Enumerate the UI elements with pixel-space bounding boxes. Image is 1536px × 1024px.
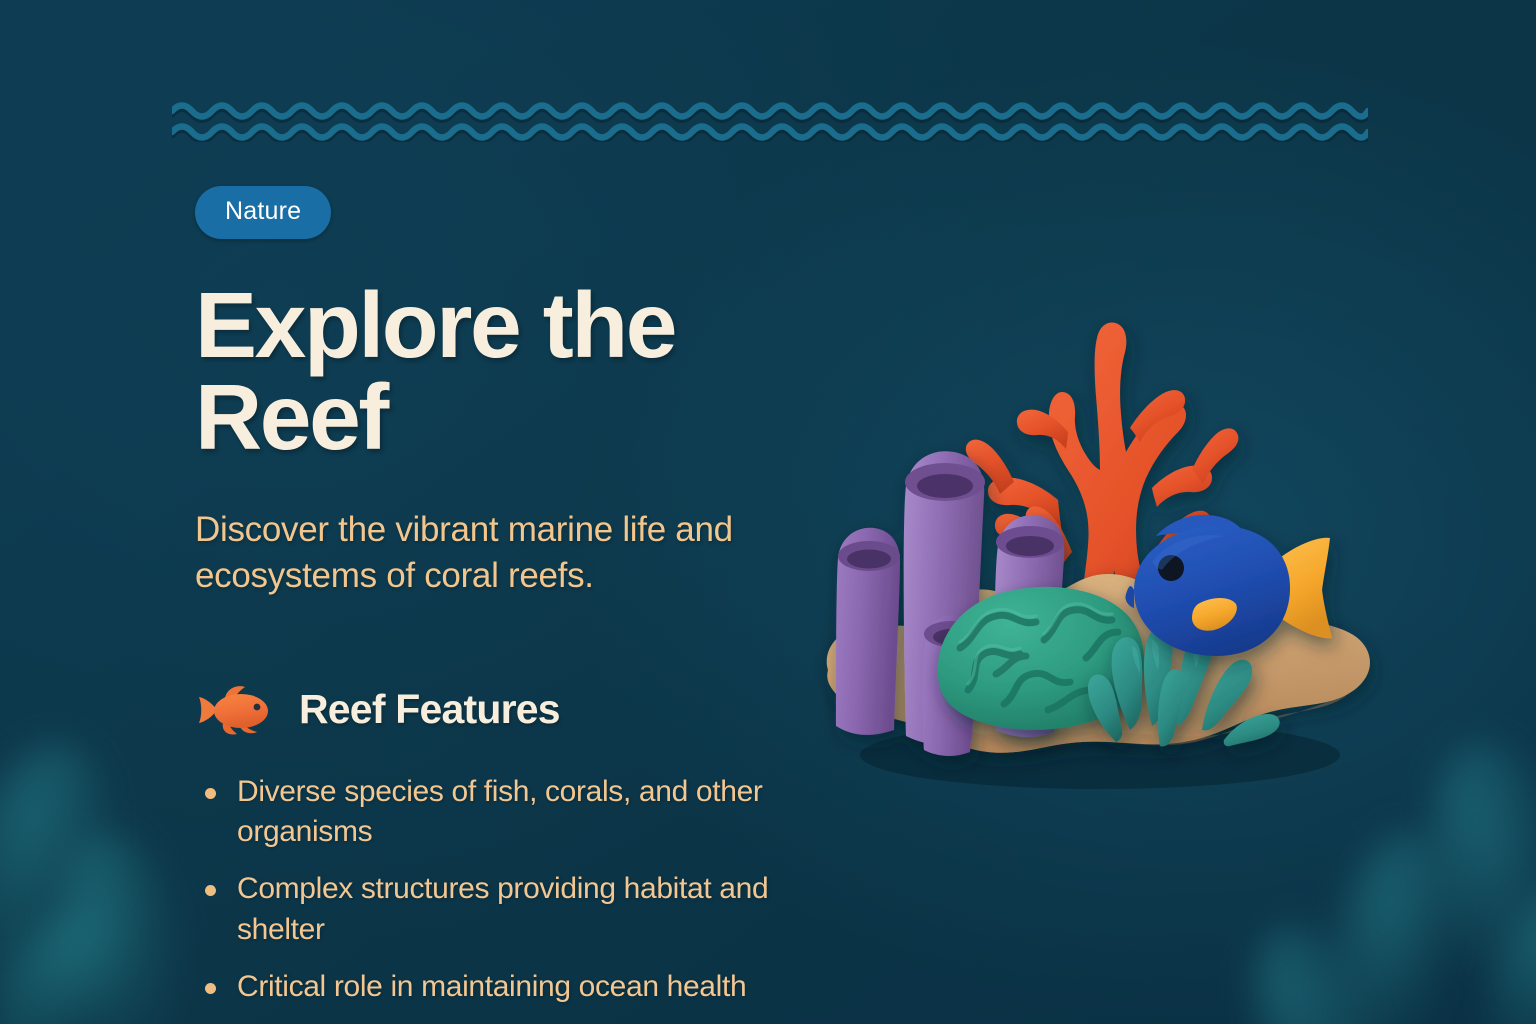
page-title-line-2: Reef <box>195 365 387 469</box>
fish-icon <box>195 684 277 736</box>
background-seaweed-blob-right-1 <box>1406 728 1536 1002</box>
background-seaweed-blob-left-2 <box>40 822 201 1024</box>
background-seaweed-blob-right-4 <box>1465 867 1536 1024</box>
content-column: Nature Explore the Reef Discover the vib… <box>195 186 835 1023</box>
background-seaweed-blob-right-2 <box>1312 821 1478 1024</box>
features-list: Diverse species of fish, corals, and oth… <box>195 772 835 1008</box>
poster-canvas: Nature Explore the Reef Discover the vib… <box>0 0 1536 1024</box>
features-heading: Reef Features <box>299 686 560 733</box>
background-seaweed-blob-left-1 <box>0 726 139 1015</box>
background-seaweed-blob-left-3 <box>0 884 148 1024</box>
category-badge[interactable]: Nature <box>195 186 331 239</box>
page-subtitle: Discover the vibrant marine life and eco… <box>195 507 740 599</box>
list-item: Critical role in maintaining ocean healt… <box>195 967 835 1008</box>
list-item: Complex structures providing habitat and… <box>195 869 835 951</box>
page-title-line-1: Explore the <box>195 273 675 377</box>
wave-divider <box>172 100 1368 142</box>
list-item: Diverse species of fish, corals, and oth… <box>195 772 835 854</box>
coral-reef-illustration <box>800 170 1410 790</box>
background-seaweed-blob-right-3 <box>1223 905 1412 1024</box>
page-title: Explore the Reef <box>195 279 755 463</box>
features-heading-row: Reef Features <box>195 684 835 736</box>
